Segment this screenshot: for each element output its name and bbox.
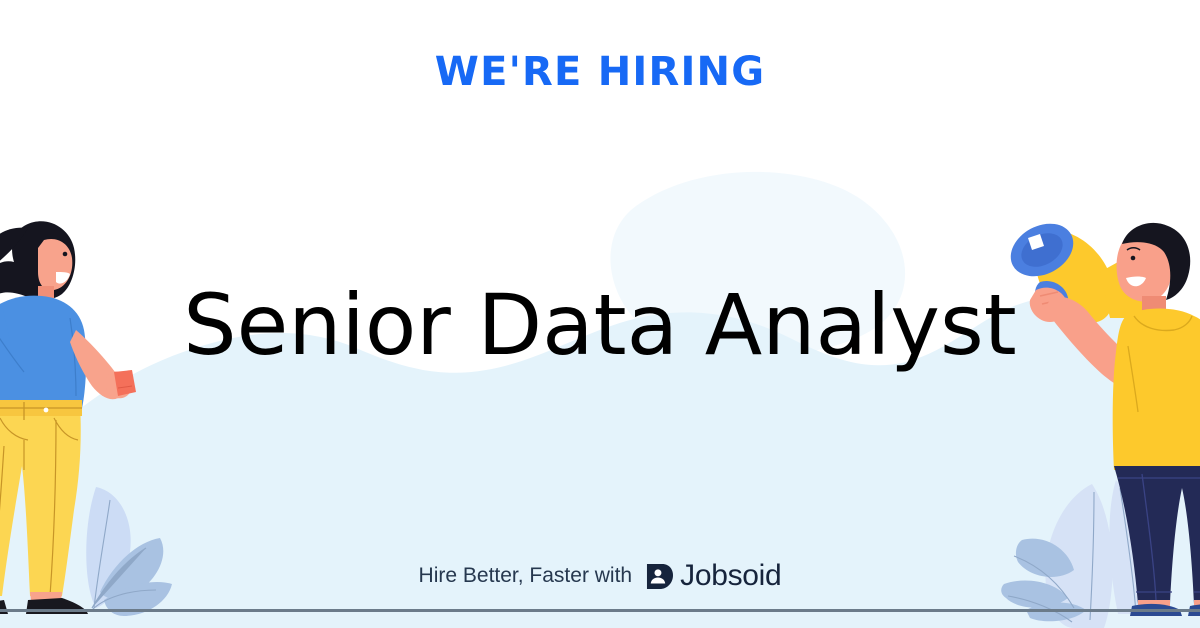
job-title: Senior Data Analyst	[0, 269, 1200, 381]
jobsoid-person-badge-icon	[646, 563, 673, 590]
footer-branding: Hire Better, Faster with Jobsoid	[0, 560, 1200, 592]
text-content: WE'RE HIRING Senior Data Analyst Hire Be…	[0, 0, 1200, 628]
jobsoid-logo[interactable]: Jobsoid	[646, 560, 781, 592]
footer-tagline: Hire Better, Faster with	[419, 561, 633, 591]
jobsoid-wordmark: Jobsoid	[680, 560, 781, 592]
bottom-divider	[0, 609, 1200, 612]
job-posting-card: WE'RE HIRING Senior Data Analyst Hire Be…	[0, 0, 1200, 628]
hiring-eyebrow: WE'RE HIRING	[0, 46, 1200, 98]
